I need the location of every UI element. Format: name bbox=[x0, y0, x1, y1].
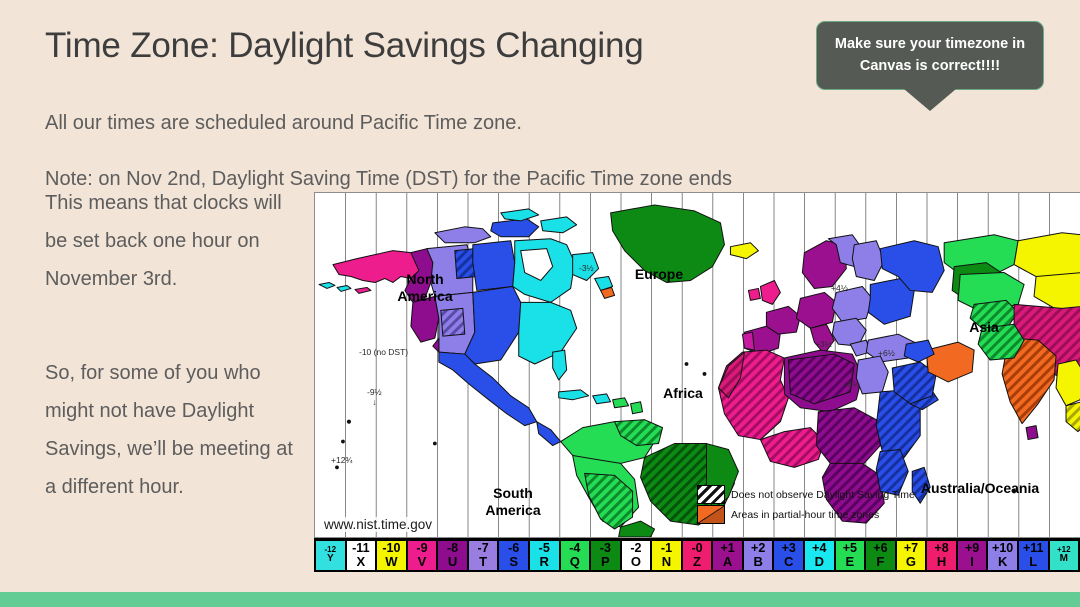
tz-offset-label: -9 bbox=[416, 542, 427, 555]
tz-offset-label: +7 bbox=[904, 542, 918, 555]
key-row-partial-hour: Areas in partial-hour time zones bbox=[697, 505, 915, 524]
tz-letter-label: T bbox=[479, 555, 487, 568]
tz-offset-label: +4 bbox=[812, 542, 826, 555]
tz-legend-cell-E: +5E bbox=[836, 541, 865, 570]
tz-legend-cell-N: -1N bbox=[652, 541, 681, 570]
tz-legend-cell-Z: -0Z bbox=[683, 541, 712, 570]
annotation-minus10-no-dst: -10 (no DST) bbox=[359, 347, 408, 357]
tz-legend-cell-S: -6S bbox=[499, 541, 528, 570]
tz-offset-label: +11 bbox=[1023, 542, 1044, 555]
tz-letter-label: C bbox=[784, 555, 793, 568]
tz-letter-label: W bbox=[385, 555, 397, 568]
tz-offset-label: -7 bbox=[478, 542, 489, 555]
tz-letter-label: U bbox=[448, 555, 457, 568]
tz-legend-cell-L: +11L bbox=[1019, 541, 1048, 570]
tz-offset-label: -6 bbox=[508, 542, 519, 555]
tz-legend-cell-Q: -4Q bbox=[561, 541, 590, 570]
continent-label-south-america: SouthAmerica bbox=[467, 485, 559, 519]
tz-legend-cell-P: -3P bbox=[591, 541, 620, 570]
annotation-plus3-half: +3½ bbox=[815, 339, 832, 349]
tz-letter-label: A bbox=[723, 555, 732, 568]
tz-legend-cell-R: -5R bbox=[530, 541, 559, 570]
tz-letter-label: X bbox=[357, 555, 366, 568]
bottom-accent-bar bbox=[0, 592, 1080, 607]
tz-legend-cell-T: -7T bbox=[469, 541, 498, 570]
tz-legend-cell-M: +12M bbox=[1050, 541, 1079, 570]
tz-legend-cell-B: +2B bbox=[744, 541, 773, 570]
tz-offset-label: +9 bbox=[965, 542, 979, 555]
world-timezone-map: NorthAmerica SouthAmerica Europe Africa … bbox=[314, 192, 1080, 538]
tz-legend-cell-D: +4D bbox=[805, 541, 834, 570]
tz-letter-label: Q bbox=[570, 555, 580, 568]
tz-offset-label: -11 bbox=[352, 542, 369, 555]
tz-letter-label: V bbox=[418, 555, 427, 568]
tz-offset-label: +10 bbox=[992, 542, 1013, 555]
annotation-plus4-half: +4½ bbox=[831, 283, 848, 293]
tz-offset-label: -0 bbox=[691, 542, 702, 555]
tz-letter-label: Y bbox=[327, 554, 334, 564]
tz-letter-label: S bbox=[509, 555, 518, 568]
tz-legend-cell-K: +10K bbox=[988, 541, 1017, 570]
tz-legend-cell-O: -2O bbox=[622, 541, 651, 570]
tz-offset-label: +2 bbox=[751, 542, 765, 555]
tz-offset-label: +6 bbox=[873, 542, 887, 555]
tz-letter-label: K bbox=[998, 555, 1007, 568]
map-legend-key: Does not observe Daylight Saving Time Ar… bbox=[697, 485, 915, 524]
tz-offset-label: +1 bbox=[720, 542, 734, 555]
tz-legend-cell-U: -8U bbox=[438, 541, 467, 570]
body-paragraph-3: This means that clocks will be set back … bbox=[45, 184, 295, 298]
page-title: Time Zone: Daylight Savings Changing bbox=[45, 26, 643, 66]
tz-letter-label: G bbox=[906, 555, 916, 568]
tz-letter-label: P bbox=[601, 555, 610, 568]
tz-offset-label: -5 bbox=[539, 542, 550, 555]
tz-letter-label: F bbox=[876, 555, 884, 568]
tz-offset-label: -8 bbox=[447, 542, 458, 555]
tz-legend-cell-Y: -12Y bbox=[316, 541, 345, 570]
timezone-legend-strip: -12Y-11X-10W-9V-8U-7T-6S-5R-4Q-3P-2O-1N-… bbox=[314, 538, 1080, 572]
tz-offset-label: -4 bbox=[569, 542, 580, 555]
tz-legend-cell-I: +9I bbox=[958, 541, 987, 570]
annotation-plus6-half: +6½ bbox=[878, 348, 895, 358]
tz-offset-label: -10 bbox=[382, 542, 400, 555]
tz-letter-label: O bbox=[631, 555, 641, 568]
tz-offset-label: -1 bbox=[661, 542, 672, 555]
body-paragraph-1: All our times are scheduled around Pacif… bbox=[45, 104, 522, 142]
tz-legend-cell-A: +1A bbox=[713, 541, 742, 570]
map-source-url: www.nist.time.gov bbox=[322, 517, 434, 532]
continent-label-africa: Africa bbox=[652, 385, 714, 402]
continent-label-australia-oceania: Australia/Oceania bbox=[896, 480, 1064, 497]
continent-label-asia: Asia bbox=[959, 319, 1009, 336]
tz-legend-cell-V: -9V bbox=[408, 541, 437, 570]
callout-tail bbox=[904, 89, 956, 111]
tz-letter-label: E bbox=[846, 555, 855, 568]
tz-legend-cell-W: -10W bbox=[377, 541, 406, 570]
tz-letter-label: M bbox=[1060, 554, 1068, 564]
annotation-plus5-half: ↑+5½ bbox=[843, 369, 860, 389]
tz-letter-label: D bbox=[815, 555, 824, 568]
tz-offset-label: -2 bbox=[630, 542, 641, 555]
body-paragraph-4: So, for some of you who might not have D… bbox=[45, 354, 301, 506]
tz-legend-cell-F: +6F bbox=[866, 541, 895, 570]
tz-letter-label: I bbox=[970, 555, 974, 568]
callout-text: Make sure your timezone in Canvas is cor… bbox=[816, 21, 1044, 90]
tz-letter-label: Z bbox=[693, 555, 701, 568]
tz-offset-label: +5 bbox=[843, 542, 857, 555]
annotation-minus9-half: -9½↓ bbox=[367, 387, 382, 407]
tz-letter-label: B bbox=[753, 555, 762, 568]
callout-bubble: Make sure your timezone in Canvas is cor… bbox=[816, 21, 1044, 90]
tz-offset-label: +8 bbox=[934, 542, 948, 555]
tz-legend-cell-G: +7G bbox=[897, 541, 926, 570]
tz-letter-label: R bbox=[540, 555, 549, 568]
orange-split-swatch-icon bbox=[697, 505, 725, 524]
tz-letter-label: N bbox=[662, 555, 671, 568]
tz-letter-label: H bbox=[937, 555, 946, 568]
tz-letter-label: L bbox=[1029, 555, 1037, 568]
tz-legend-cell-X: -11X bbox=[347, 541, 376, 570]
tz-legend-cell-H: +8H bbox=[927, 541, 956, 570]
tz-offset-label: -3 bbox=[600, 542, 611, 555]
continent-label-north-america: NorthAmerica bbox=[377, 271, 473, 305]
annotation-plus12-three-quarter: +12¾ bbox=[331, 455, 353, 465]
tz-legend-cell-C: +3C bbox=[774, 541, 803, 570]
tz-offset-label: +3 bbox=[782, 542, 796, 555]
key-row-no-dst: Does not observe Daylight Saving Time bbox=[697, 485, 915, 504]
annotation-minus3-half: -3½ bbox=[579, 263, 594, 273]
hatch-swatch-icon bbox=[697, 485, 725, 504]
continent-label-europe: Europe bbox=[623, 266, 695, 283]
